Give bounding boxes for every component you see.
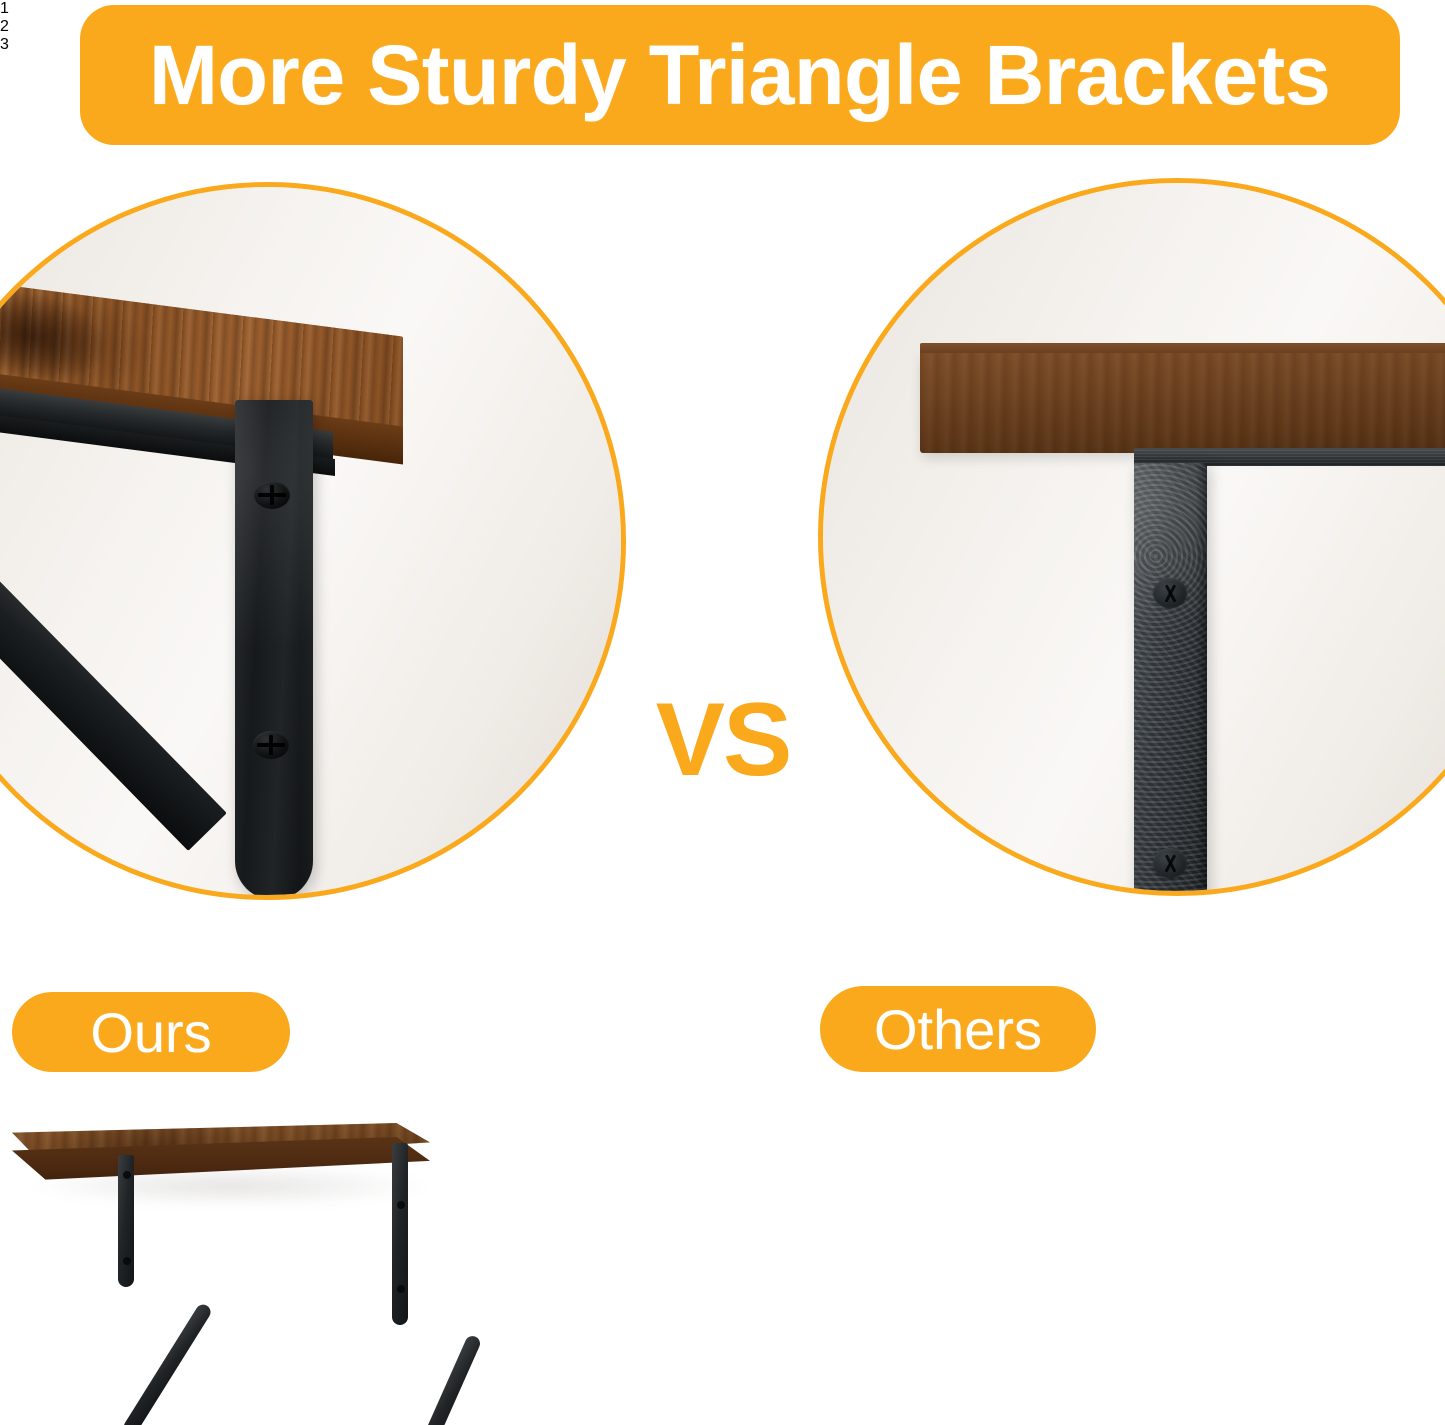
- others-screw-icon-top: [1153, 578, 1187, 608]
- shelf-2-bracket-right-hole-bottom: [397, 1285, 405, 1293]
- ours-bracket-vertical-arm: [235, 400, 313, 900]
- shelf-2-bracket-right-diagonal: [395, 1334, 483, 1425]
- shelf-2-bracket-right-hole-top: [397, 1201, 405, 1209]
- comparison-section: Ours Others VS: [0, 160, 1445, 960]
- shelf-3-plank-top: [0, 1287, 392, 1399]
- others-wood-plank: [920, 343, 1445, 453]
- ours-screw-icon-top: [254, 481, 290, 509]
- product-infographic: More Sturdy Triangle Brackets: [0, 0, 1445, 1425]
- others-badge: Others: [820, 986, 1096, 1072]
- page-title: More Sturdy Triangle Brackets: [149, 33, 1330, 117]
- others-screw-icon-bottom: [1153, 848, 1187, 878]
- shelf-3-bracket-left-diagonal: [0, 1151, 14, 1273]
- shelf-2-bracket-right-vertical: [392, 1143, 408, 1325]
- shelf-3-bracket-left-vertical: [0, 1031, 17, 1155]
- ours-screw-icon-bottom: [253, 731, 289, 759]
- vs-label: VS: [648, 688, 798, 792]
- others-bracket-vertical-arm: [1134, 463, 1207, 896]
- ours-badge: Ours: [12, 992, 290, 1072]
- others-plank-front-face: [920, 353, 1445, 453]
- title-banner: More Sturdy Triangle Brackets: [80, 5, 1400, 145]
- ours-photo-circle: [0, 182, 626, 900]
- others-photo-circle: [818, 178, 1445, 896]
- shelf-3-plank-edge: [0, 1399, 392, 1425]
